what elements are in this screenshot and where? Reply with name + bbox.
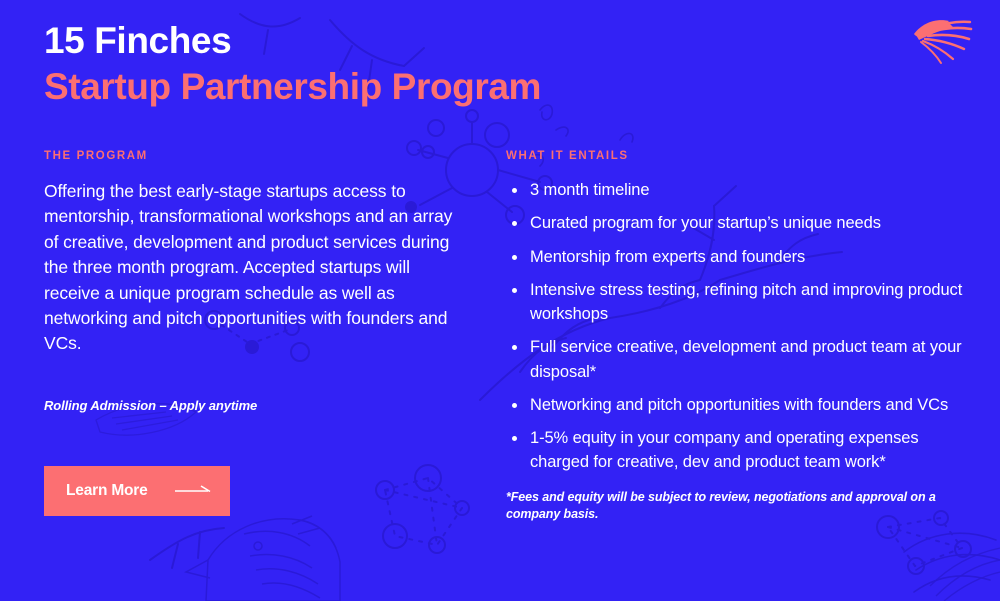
program-kicker: THE PROGRAM xyxy=(44,150,464,162)
program-body-text: Offering the best early-stage startups a… xyxy=(44,179,464,357)
arrow-right-icon xyxy=(174,485,212,497)
list-item: 1-5% equity in your company and operatin… xyxy=(506,426,966,475)
entails-kicker: WHAT IT ENTAILS xyxy=(506,150,966,162)
list-item: Mentorship from experts and founders xyxy=(506,245,966,269)
page-subtitle: Startup Partnership Program xyxy=(44,66,744,109)
poster-root: 15 Finches Startup Partnership Program T… xyxy=(0,0,1000,601)
page-title-block: 15 Finches Startup Partnership Program xyxy=(44,20,744,109)
program-column: THE PROGRAM Offering the best early-stag… xyxy=(44,150,464,357)
learn-more-label: Learn More xyxy=(66,482,148,500)
learn-more-button[interactable]: Learn More xyxy=(44,466,230,516)
page-title: 15 Finches xyxy=(44,20,744,63)
list-item: Networking and pitch opportunities with … xyxy=(506,393,966,417)
list-item: Curated program for your startup’s uniqu… xyxy=(506,211,966,235)
entails-column: WHAT IT ENTAILS 3 month timeline Curated… xyxy=(506,150,966,524)
list-item: Intensive stress testing, refining pitch… xyxy=(506,278,966,327)
list-item: Full service creative, development and p… xyxy=(506,335,966,384)
list-item: 3 month timeline xyxy=(506,178,966,202)
entails-footnote: *Fees and equity will be subject to revi… xyxy=(506,489,966,525)
finch-head-logo xyxy=(912,16,974,66)
entails-list: 3 month timeline Curated program for you… xyxy=(506,178,966,475)
admission-note: Rolling Admission – Apply anytime xyxy=(44,398,257,413)
